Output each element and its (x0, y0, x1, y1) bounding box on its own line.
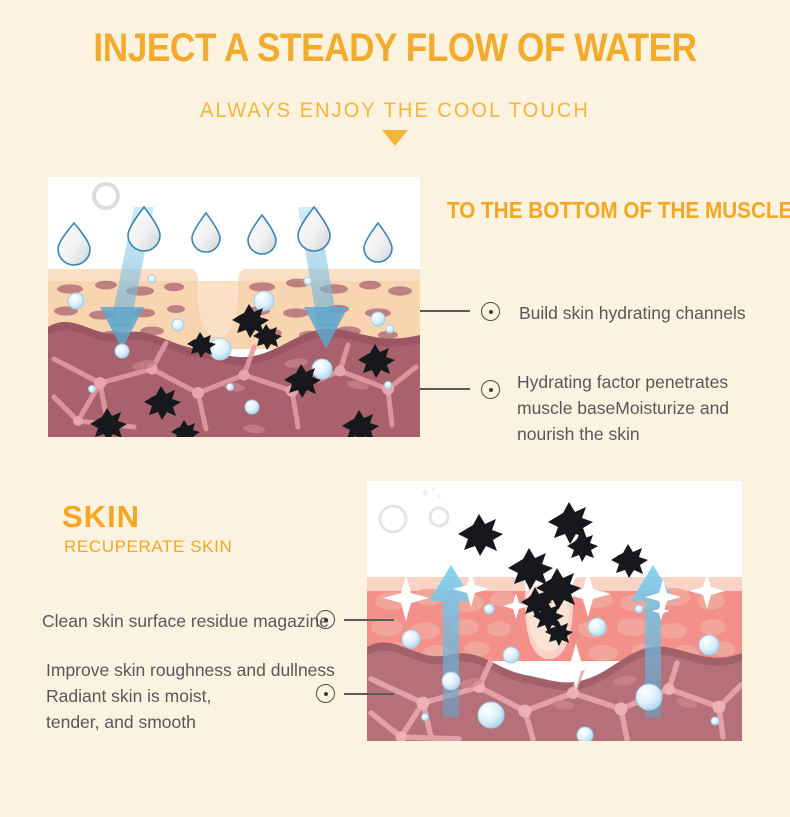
page-title: INJECT A STEADY FLOW OF WATER (47, 26, 742, 71)
triangle-down-icon (382, 130, 408, 146)
dot-circle-icon (316, 684, 335, 703)
infographic-root: INJECT A STEADY FLOW OF WATER ALWAYS ENJ… (0, 0, 790, 817)
page-subtitle: ALWAYS ENJOY THE COOL TOUCH (20, 99, 771, 123)
leader-line-3 (344, 619, 394, 621)
dot-circle-icon (481, 380, 500, 399)
bottom-section-subtitle: RECUPERATE SKIN (64, 537, 232, 557)
skin-purification-diagram (367, 481, 742, 741)
callout-label-hydrating-factor: Hydrating factor penetrates muscle baseM… (517, 369, 729, 447)
callout-label-build-channels: Build skin hydrating channels (519, 300, 746, 326)
top-section-title: TO THE BOTTOM OF THE MUSCLE (447, 197, 790, 224)
dot-circle-icon (316, 610, 335, 629)
callout-label-improve-roughness: Improve skin roughness and dullness Radi… (46, 657, 335, 735)
dot-circle-icon (481, 302, 500, 321)
bottom-section-title: SKIN (62, 499, 140, 535)
leader-line-4 (344, 693, 394, 695)
callout-label-clean-residue: Clean skin surface residue magazine (42, 608, 329, 634)
leader-line-2 (420, 388, 470, 390)
skin-hydration-diagram (48, 177, 420, 437)
leader-line-1 (420, 310, 470, 312)
